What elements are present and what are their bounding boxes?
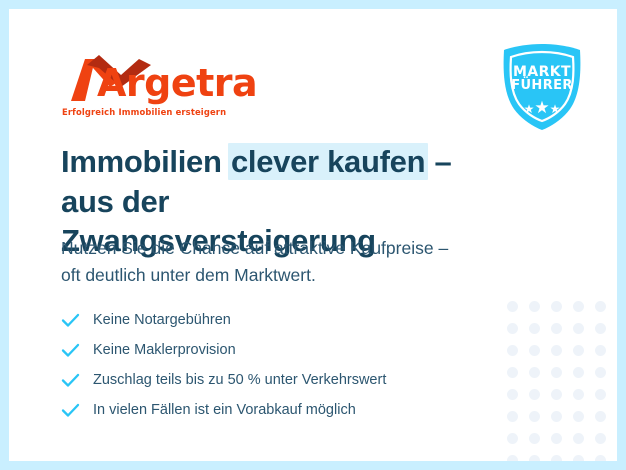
decorative-dot	[551, 345, 562, 356]
decorative-dot	[529, 411, 540, 422]
decorative-dot	[551, 455, 562, 462]
list-item: In vielen Fällen ist ein Vorabkauf mögli…	[61, 395, 501, 425]
decorative-dot	[573, 323, 584, 334]
subtitle-line1: Nutzen Sie die Chance auf attraktive Kau…	[61, 238, 448, 258]
check-icon	[61, 373, 85, 388]
decorative-dot	[507, 455, 518, 462]
badge-line-2: FÜHRER	[496, 79, 588, 92]
decorative-dot	[573, 433, 584, 444]
decorative-dot	[551, 433, 562, 444]
decorative-dot	[551, 301, 562, 312]
headline-highlight: clever kaufen	[228, 143, 428, 180]
decorative-dot	[507, 301, 518, 312]
decorative-dot	[595, 389, 606, 400]
decorative-dot	[551, 367, 562, 378]
decorative-dot	[573, 367, 584, 378]
list-item: Keine Notargebühren	[61, 305, 501, 335]
list-item: Keine Maklerprovision	[61, 335, 501, 365]
decorative-dot	[507, 323, 518, 334]
list-item-label: Zuschlag teils bis zu 50 % unter Verkehr…	[85, 372, 386, 388]
decorative-dot	[529, 367, 540, 378]
benefits-list: Keine Notargebühren Keine Maklerprovisio…	[61, 305, 501, 425]
decorative-dot	[573, 345, 584, 356]
decorative-dot	[551, 323, 562, 334]
check-icon	[61, 343, 85, 358]
decorative-dot	[529, 389, 540, 400]
decorative-dot	[529, 345, 540, 356]
list-item: Zuschlag teils bis zu 50 % unter Verkehr…	[61, 365, 501, 395]
subtitle: Nutzen Sie die Chance auf attraktive Kau…	[61, 235, 531, 289]
decorative-dot	[551, 389, 562, 400]
headline-line1-after: –	[426, 144, 451, 179]
check-icon	[61, 403, 85, 418]
star-icon: ★	[550, 102, 561, 116]
list-item-label: Keine Maklerprovision	[85, 342, 236, 358]
subtitle-line2: oft deutlich unter dem Marktwert.	[61, 265, 316, 285]
logo-wordmark: Argetra	[97, 64, 257, 102]
decorative-dot	[573, 301, 584, 312]
badge-stars: ★★★	[496, 99, 588, 117]
check-icon	[61, 313, 85, 328]
decorative-dot	[551, 411, 562, 422]
decorative-dot	[529, 433, 540, 444]
star-icon: ★	[524, 102, 535, 116]
decorative-dot	[507, 345, 518, 356]
decorative-dot	[573, 455, 584, 462]
decorative-dot	[507, 411, 518, 422]
decorative-dot	[595, 433, 606, 444]
decorative-dot	[595, 323, 606, 334]
decorative-dot-grid	[501, 295, 611, 461]
decorative-dot	[507, 389, 518, 400]
headline-line1-before: Immobilien	[61, 144, 230, 179]
decorative-dot	[595, 345, 606, 356]
market-leader-badge: MARKT FÜHRER ★★★	[496, 41, 588, 133]
argetra-logo: Argetra Erfolgreich Immobilien ersteiger…	[61, 51, 211, 119]
list-item-label: In vielen Fällen ist ein Vorabkauf mögli…	[85, 402, 356, 418]
list-item-label: Keine Notargebühren	[85, 312, 231, 328]
decorative-dot	[529, 301, 540, 312]
star-icon: ★	[534, 98, 549, 117]
decorative-dot	[595, 367, 606, 378]
decorative-dot	[529, 455, 540, 462]
decorative-dot	[573, 389, 584, 400]
promo-card: Argetra Erfolgreich Immobilien ersteiger…	[9, 9, 617, 461]
decorative-dot	[573, 411, 584, 422]
decorative-dot	[595, 411, 606, 422]
decorative-dot	[529, 323, 540, 334]
logo-tagline: Erfolgreich Immobilien ersteigern	[62, 107, 226, 117]
badge-text: MARKT FÜHRER	[496, 65, 588, 93]
decorative-dot	[595, 301, 606, 312]
decorative-dot	[507, 367, 518, 378]
decorative-dot	[595, 455, 606, 462]
decorative-dot	[507, 433, 518, 444]
